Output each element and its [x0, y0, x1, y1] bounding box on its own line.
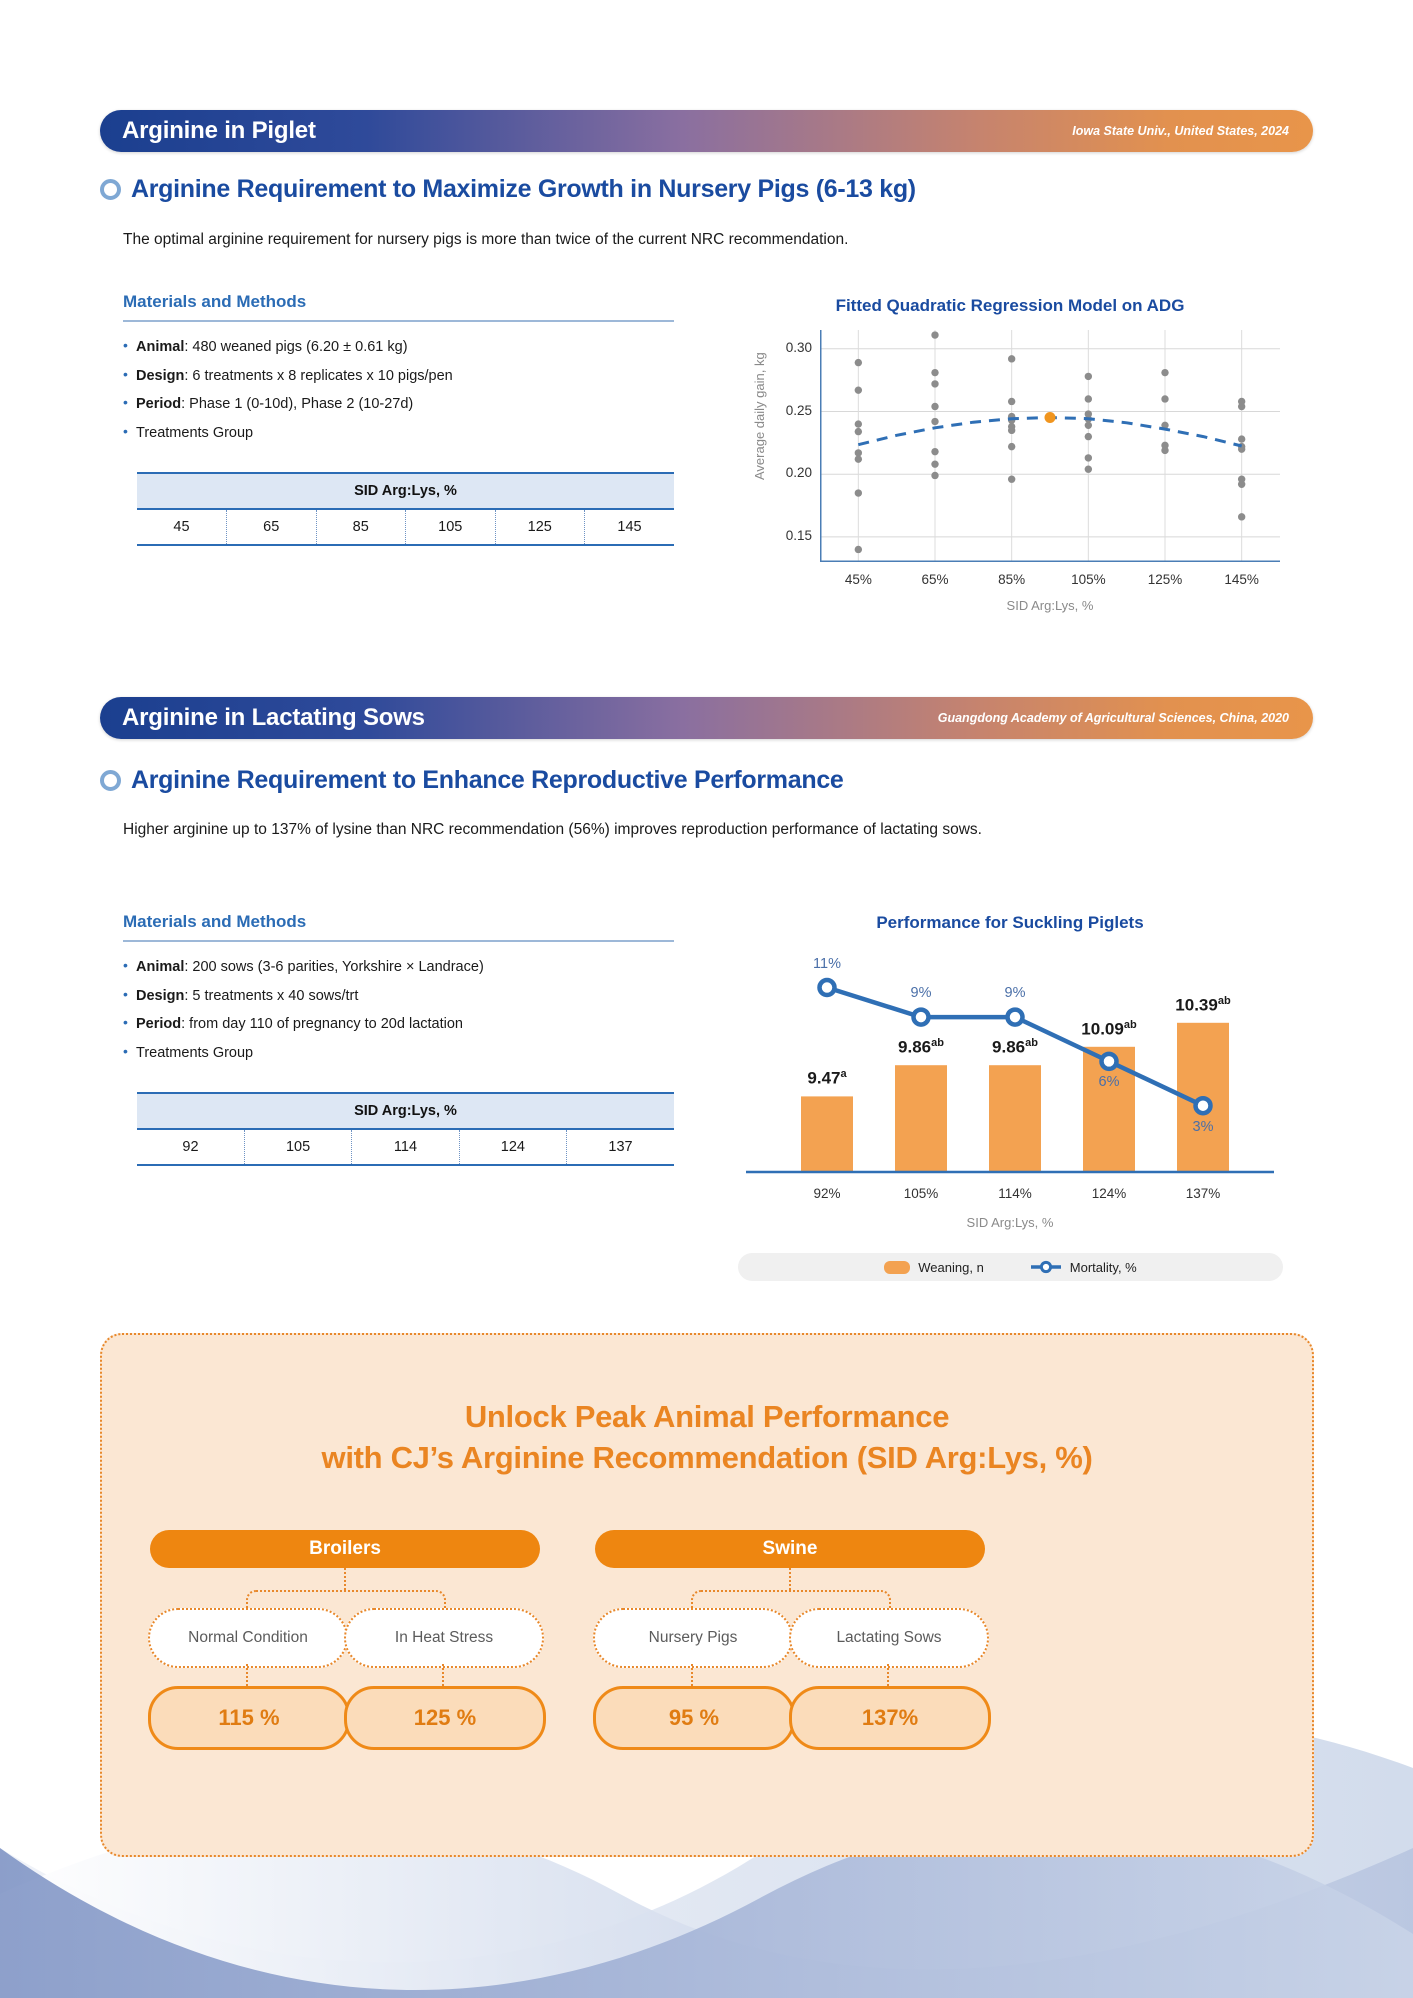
- line-value-label: 3%: [1158, 1119, 1248, 1135]
- scatter-chart-title: Fitted Quadratic Regression Model on ADG: [730, 296, 1290, 316]
- list-item: Period: from day 110 of pregnancy to 20d…: [123, 1014, 484, 1035]
- legend-item-weaning: Weaning, n: [884, 1260, 984, 1275]
- infographic-page: Arginine in Piglet Iowa State Univ., Uni…: [0, 0, 1413, 1998]
- scatter-x-tick: 65%: [900, 572, 970, 587]
- legend-item-mortality: Mortality, %: [1030, 1260, 1137, 1275]
- recommendation-panel: Unlock Peak Animal Performance with CJ’s…: [100, 1333, 1314, 1857]
- combo-x-axis-label: SID Arg:Lys, %: [740, 1215, 1280, 1230]
- condition-pill-normal: Normal Condition: [148, 1608, 348, 1668]
- table-cell: 125: [495, 509, 585, 545]
- table-cell: 92: [137, 1129, 244, 1165]
- list-item: Period: Phase 1 (0-10d), Phase 2 (10-27d…: [123, 394, 453, 415]
- treatments-table-2: SID Arg:Lys, % 92 105 114 124 137: [137, 1092, 674, 1166]
- list-item: Animal: 480 weaned pigs (6.20 ± 0.61 kg): [123, 337, 453, 358]
- line-value-label: 9%: [970, 985, 1060, 1001]
- connector-vertical: [887, 1664, 889, 1686]
- bar-value-label: 10.39ab: [1148, 995, 1258, 1016]
- banner-source: Iowa State Univ., United States, 2024: [1072, 124, 1289, 138]
- table-cell: 145: [585, 509, 675, 545]
- value-pill-broilers-heat: 125 %: [344, 1686, 546, 1750]
- treatments-table-1: SID Arg:Lys, % 45 65 85 105 125 145: [137, 472, 674, 546]
- category-header-broilers: Broilers: [150, 1530, 540, 1568]
- combo-x-tick: 92%: [782, 1186, 872, 1201]
- scatter-y-tick: 0.25: [760, 403, 812, 418]
- combo-x-tick: 114%: [970, 1186, 1060, 1201]
- legend-label: Weaning, n: [918, 1260, 984, 1275]
- table-cell: 45: [137, 509, 227, 545]
- connector-vertical: [344, 1568, 346, 1590]
- value-pill-lactating-sows: 137%: [789, 1686, 991, 1750]
- scatter-y-tick: 0.15: [760, 528, 812, 543]
- bar-value-label: 9.47a: [772, 1068, 882, 1089]
- scatter-x-tick: 125%: [1130, 572, 1200, 587]
- combo-svg: [740, 940, 1280, 1180]
- banner-title: Arginine in Piglet: [122, 117, 316, 145]
- combo-x-tick: 105%: [876, 1186, 966, 1201]
- materials-methods-title-1: Materials and Methods: [123, 292, 306, 312]
- combo-x-tick: 124%: [1064, 1186, 1154, 1201]
- table-cell: 105: [244, 1129, 351, 1165]
- section-summary-1: The optimal arginine requirement for nur…: [123, 228, 1273, 251]
- list-item: Treatments Group: [123, 1043, 484, 1064]
- condition-pill-heat-stress: In Heat Stress: [344, 1608, 544, 1668]
- combo-chart-title: Performance for Suckling Piglets: [730, 913, 1290, 933]
- section-heading-2: Arginine Requirement to Enhance Reproduc…: [100, 766, 844, 795]
- table-cell: 105: [406, 509, 496, 545]
- section-summary-2: Higher arginine up to 137% of lysine tha…: [123, 818, 1263, 841]
- banner-source: Guangdong Academy of Agricultural Scienc…: [938, 711, 1289, 725]
- cta-title-line-1: Unlock Peak Animal Performance: [102, 1397, 1312, 1438]
- connector-vertical: [789, 1568, 791, 1590]
- section-heading-text: Arginine Requirement to Maximize Growth …: [131, 175, 916, 204]
- ring-bullet-icon: [100, 179, 121, 200]
- table-cell: 137: [567, 1129, 674, 1165]
- section-heading-1: Arginine Requirement to Maximize Growth …: [100, 175, 916, 204]
- table-cell: 124: [459, 1129, 566, 1165]
- line-marker-icon: [1030, 1260, 1062, 1274]
- legend-label: Mortality, %: [1070, 1260, 1137, 1275]
- table-row: 45 65 85 105 125 145: [137, 509, 674, 545]
- table-cell: 65: [227, 509, 317, 545]
- ring-bullet-icon: [100, 770, 121, 791]
- banner-title: Arginine in Lactating Sows: [122, 704, 425, 732]
- materials-methods-rule-1: [123, 320, 674, 322]
- materials-methods-rule-2: [123, 940, 674, 942]
- scatter-x-tick: 105%: [1053, 572, 1123, 587]
- scatter-x-tick: 145%: [1207, 572, 1277, 587]
- category-header-swine: Swine: [595, 1530, 985, 1568]
- scatter-plot-area: [820, 330, 1280, 562]
- table-row: 92 105 114 124 137: [137, 1129, 674, 1165]
- table-header: SID Arg:Lys, %: [137, 1093, 674, 1129]
- materials-methods-list-1: Animal: 480 weaned pigs (6.20 ± 0.61 kg)…: [123, 337, 453, 451]
- value-pill-broilers-normal: 115 %: [148, 1686, 350, 1750]
- bar-swatch-icon: [884, 1261, 910, 1274]
- line-value-label: 9%: [876, 985, 966, 1001]
- scatter-x-axis-label: SID Arg:Lys, %: [820, 598, 1280, 613]
- table-cell: 114: [352, 1129, 459, 1165]
- connector-bracket: [691, 1590, 891, 1610]
- materials-methods-list-2: Animal: 200 sows (3-6 parities, Yorkshir…: [123, 957, 484, 1071]
- connector-vertical: [691, 1664, 693, 1686]
- line-value-label: 6%: [1064, 1074, 1154, 1090]
- scatter-svg: [820, 330, 1280, 562]
- bar-value-label: 10.09ab: [1054, 1019, 1164, 1040]
- materials-methods-title-2: Materials and Methods: [123, 912, 306, 932]
- list-item: Design: 5 treatments x 40 sows/trt: [123, 986, 484, 1007]
- scatter-x-tick: 45%: [823, 572, 893, 587]
- table-header: SID Arg:Lys, %: [137, 473, 674, 509]
- list-item: Treatments Group: [123, 423, 453, 444]
- section-banner-piglet: Arginine in Piglet Iowa State Univ., Uni…: [100, 110, 1313, 152]
- connector-bracket: [246, 1590, 446, 1610]
- section-heading-text: Arginine Requirement to Enhance Reproduc…: [131, 766, 844, 795]
- value-pill-nursery-pigs: 95 %: [593, 1686, 795, 1750]
- table-cell: 85: [316, 509, 406, 545]
- section-banner-sows: Arginine in Lactating Sows Guangdong Aca…: [100, 697, 1313, 739]
- connector-vertical: [442, 1664, 444, 1686]
- condition-pill-lactating-sows: Lactating Sows: [789, 1608, 989, 1668]
- combo-x-tick: 137%: [1158, 1186, 1248, 1201]
- connector-vertical: [246, 1664, 248, 1686]
- line-value-label: 11%: [782, 956, 872, 972]
- condition-pill-nursery-pigs: Nursery Pigs: [593, 1608, 793, 1668]
- cta-title-line-2: with CJ’s Arginine Recommendation (SID A…: [102, 1438, 1312, 1479]
- cta-title: Unlock Peak Animal Performance with CJ’s…: [102, 1397, 1312, 1479]
- combo-plot-area: [740, 940, 1280, 1180]
- list-item: Design: 6 treatments x 8 replicates x 10…: [123, 366, 453, 387]
- combo-chart-legend: Weaning, n Mortality, %: [738, 1253, 1283, 1281]
- bar-value-label: 9.86ab: [960, 1037, 1070, 1058]
- scatter-y-tick: 0.20: [760, 465, 812, 480]
- list-item: Animal: 200 sows (3-6 parities, Yorkshir…: [123, 957, 484, 978]
- scatter-x-tick: 85%: [977, 572, 1047, 587]
- scatter-y-tick: 0.30: [760, 340, 812, 355]
